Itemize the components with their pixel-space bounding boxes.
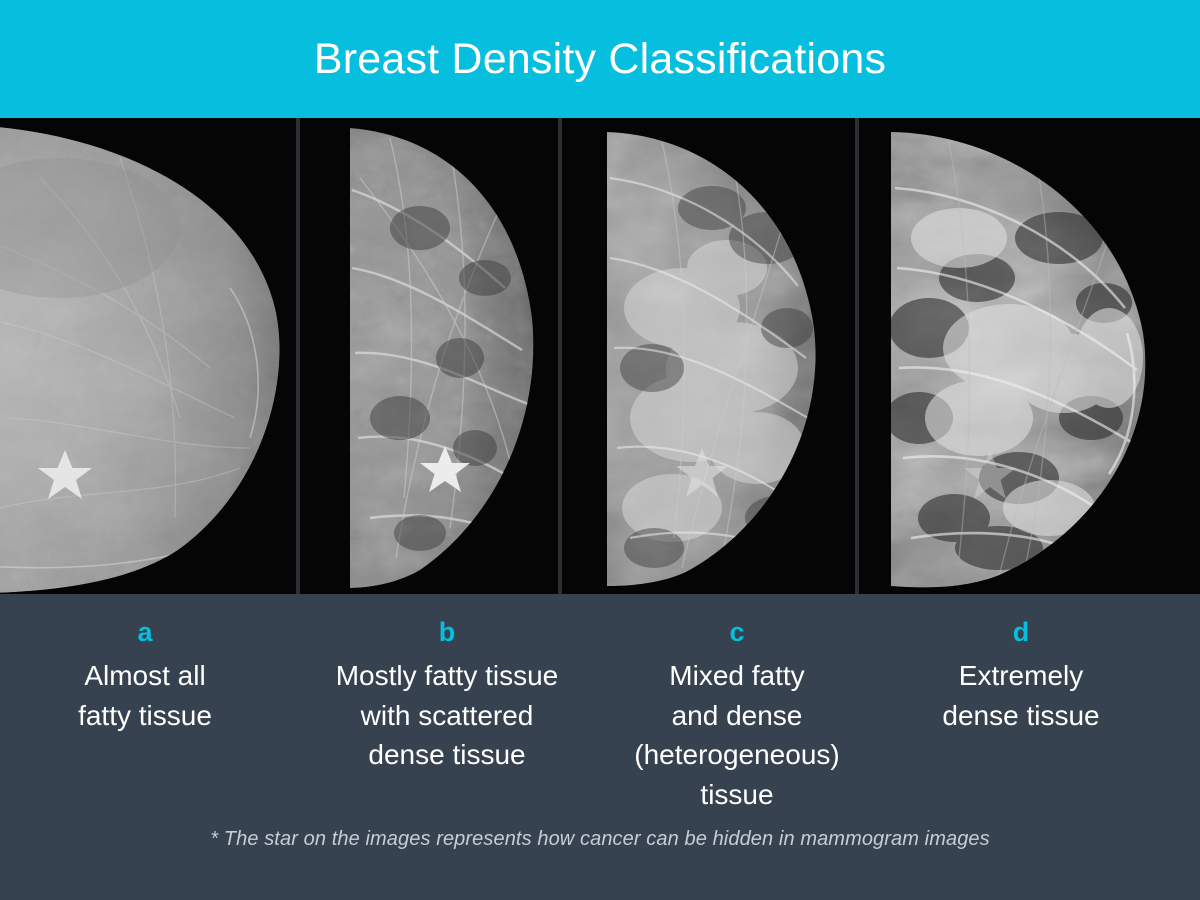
mammogram-image-c	[562, 118, 855, 594]
caption-column-d: d Extremely dense tissue	[880, 616, 1162, 735]
header-band: Breast Density Classifications	[0, 0, 1200, 118]
caption-letter-b: b	[298, 616, 596, 650]
caption-text-a: Almost all fatty tissue	[0, 656, 290, 736]
mammogram-panel-a	[0, 118, 296, 594]
caption-column-a: a Almost all fatty tissue	[0, 616, 290, 735]
footnote-star-explanation: * The star on the images represents how …	[0, 828, 1200, 851]
mammogram-image-d	[859, 118, 1200, 594]
caption-text-b: Mostly fatty tissue with scattered dense…	[298, 656, 596, 775]
mammogram-image-b	[300, 118, 558, 594]
mammogram-image-strip	[0, 118, 1200, 594]
caption-letter-c: c	[594, 616, 880, 650]
mammogram-panel-b	[300, 118, 558, 594]
mammogram-panel-c	[562, 118, 855, 594]
caption-area: a Almost all fatty tissue b Mostly fatty…	[0, 594, 1200, 900]
caption-column-c: c Mixed fatty and dense (heterogeneous) …	[594, 616, 880, 815]
caption-text-c: Mixed fatty and dense (heterogeneous) ti…	[594, 656, 880, 815]
caption-letter-a: a	[0, 616, 290, 650]
mammogram-panel-d	[859, 118, 1200, 594]
caption-letter-d: d	[880, 616, 1162, 650]
page-title: Breast Density Classifications	[314, 38, 886, 81]
mammogram-image-a	[0, 118, 296, 594]
caption-column-b: b Mostly fatty tissue with scattered den…	[298, 616, 596, 775]
breast-density-infographic: Breast Density Classifications	[0, 0, 1200, 900]
caption-text-d: Extremely dense tissue	[880, 656, 1162, 736]
